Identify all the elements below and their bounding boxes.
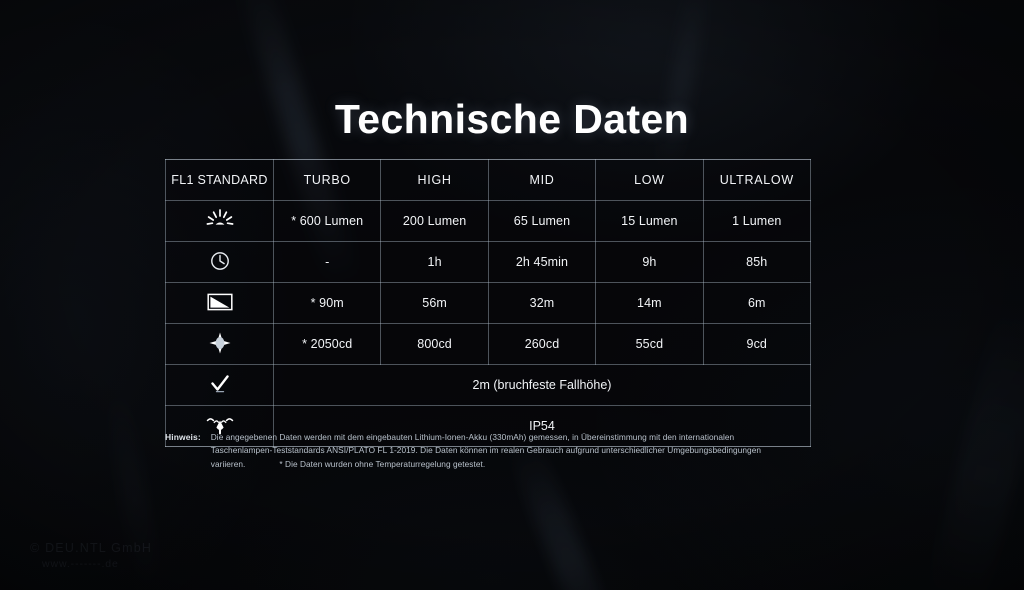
cell-runtime-ultralow: 85h <box>703 242 810 283</box>
footnote-label: Hinweis: <box>165 431 201 442</box>
watermark: © DEU.NTL GmbH www.-------.de <box>30 540 152 571</box>
cell-lumens-mid: 65 Lumen <box>488 201 595 242</box>
cell-runtime-high: 1h <box>381 242 488 283</box>
column-header-high: HIGH <box>381 160 488 201</box>
cell-runtime-mid: 2h 45min <box>488 242 595 283</box>
column-header-turbo: TURBO <box>274 160 381 201</box>
page-title: Technische Daten <box>0 96 1024 143</box>
runtime-clock-icon <box>209 250 231 272</box>
cell-lumens-low: 15 Lumen <box>596 201 703 242</box>
cell-distance-turbo: * 90m <box>274 283 381 324</box>
table-row: - 1h 2h 45min 9h 85h <box>166 242 811 283</box>
cell-runtime-low: 9h <box>596 242 703 283</box>
cell-distance-low: 14m <box>596 283 703 324</box>
table-row: * 2050cd 800cd 260cd 55cd 9cd <box>166 324 811 365</box>
footnote-line-2: Taschenlampen-Teststandards ANSI/PLATO F… <box>211 444 761 457</box>
footnote-line-3: variieren.* Die Daten wurden ohne Temper… <box>211 458 761 471</box>
cell-candela-mid: 260cd <box>488 324 595 365</box>
footnote-line-1: Die angegebenen Daten werden mit dem ein… <box>211 431 761 444</box>
table-header-row: FL1 STANDARD TURBO HIGH MID LOW ULTRALOW <box>166 160 811 201</box>
column-header-low: LOW <box>596 160 703 201</box>
cell-candela-turbo: * 2050cd <box>274 324 381 365</box>
column-header-fl1-standard: FL1 STANDARD <box>166 160 274 201</box>
table-row: 2m (bruchfeste Fallhöhe) <box>166 365 811 406</box>
impact-resistance-icon <box>208 373 232 395</box>
row-label-impact-resistance <box>166 365 274 406</box>
cell-candela-high: 800cd <box>381 324 488 365</box>
watermark-url: www.-------.de <box>30 557 152 571</box>
footnote-body: Die angegebenen Daten werden mit dem ein… <box>211 431 761 471</box>
row-label-peak-beam-intensity <box>166 324 274 365</box>
cell-lumens-high: 200 Lumen <box>381 201 488 242</box>
footnote: Hinweis: Die angegebenen Daten werden mi… <box>165 431 825 471</box>
cell-candela-ultralow: 9cd <box>703 324 810 365</box>
row-label-runtime <box>166 242 274 283</box>
specifications-table: FL1 STANDARD TURBO HIGH MID LOW ULTRALOW <box>165 159 811 447</box>
cell-distance-mid: 32m <box>488 283 595 324</box>
column-header-ultralow: ULTRALOW <box>703 160 810 201</box>
peak-beam-intensity-icon <box>208 331 232 355</box>
row-label-beam-distance <box>166 283 274 324</box>
cell-distance-high: 56m <box>381 283 488 324</box>
row-label-light-output <box>166 201 274 242</box>
watermark-company: © DEU.NTL GmbH <box>30 540 152 557</box>
footnote-line-3-note: * Die Daten wurden ohne Temperaturregelu… <box>279 459 485 469</box>
table-row: * 90m 56m 32m 14m 6m <box>166 283 811 324</box>
column-header-mid: MID <box>488 160 595 201</box>
cell-lumens-turbo: * 600 Lumen <box>274 201 381 242</box>
footnote-line-3-start: variieren. <box>211 459 246 469</box>
cell-impact-resistance-value: 2m (bruchfeste Fallhöhe) <box>274 365 811 406</box>
table-row: * 600 Lumen 200 Lumen 65 Lumen 15 Lumen … <box>166 201 811 242</box>
cell-distance-ultralow: 6m <box>703 283 810 324</box>
beam-distance-icon <box>207 293 233 311</box>
cell-candela-low: 55cd <box>596 324 703 365</box>
light-output-icon <box>205 208 235 232</box>
cell-lumens-ultralow: 1 Lumen <box>703 201 810 242</box>
cell-runtime-turbo: - <box>274 242 381 283</box>
